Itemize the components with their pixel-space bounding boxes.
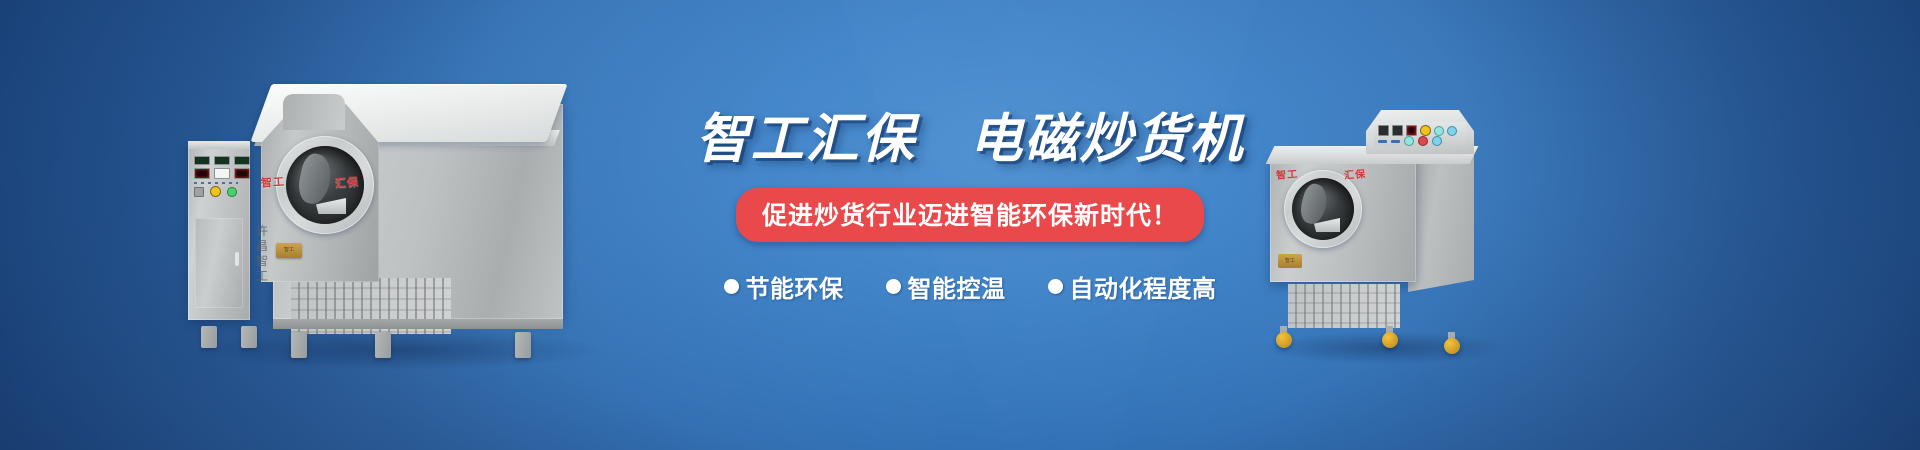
left-drum-paddle xyxy=(295,151,335,206)
feature-item-3: 自动化程度高 xyxy=(1048,269,1217,304)
panel-label-1 xyxy=(1378,140,1387,143)
tagline-ribbon: 促进炒货行业迈进智能环保新时代！ xyxy=(736,188,1204,242)
feature-item-1: 节能环保 xyxy=(724,269,844,304)
panel-display-2 xyxy=(1392,125,1403,136)
feature-label-1: 节能环保 xyxy=(746,269,844,304)
bullet-dot-icon xyxy=(1048,279,1063,294)
right-nameplate: 智工 xyxy=(1278,254,1302,268)
bullet-dot-icon xyxy=(886,279,901,294)
right-caster-wheel-2 xyxy=(1382,332,1398,348)
emergency-stop-icon[interactable] xyxy=(1420,125,1431,136)
feature-label-3: 自动化程度高 xyxy=(1070,269,1217,304)
left-nameplate: 智工 xyxy=(276,243,302,258)
headline-brand: 智工汇保 xyxy=(696,110,916,169)
right-panel-row-2 xyxy=(1378,136,1442,146)
gauge-display-1 xyxy=(194,156,210,165)
feature-item-2: 智能控温 xyxy=(886,269,1006,304)
indicator-lamp-3 xyxy=(1404,136,1414,146)
emergency-knob-icon[interactable] xyxy=(210,186,221,197)
readout-display-2 xyxy=(214,168,230,179)
readout-display-1 xyxy=(194,168,210,179)
bullet-dot-icon xyxy=(724,279,739,294)
tagline-text: 促进炒货行业迈进智能环保新时代！ xyxy=(762,202,1178,230)
readout-display-3 xyxy=(234,168,250,179)
right-ventilation-grille xyxy=(1288,284,1400,328)
right-side-panel xyxy=(1408,142,1474,292)
left-leg-1 xyxy=(201,326,217,348)
left-nameplate-text: 智工 xyxy=(276,243,302,258)
left-door-handle[interactable] xyxy=(235,252,239,266)
right-caster-wheel-3 xyxy=(1444,338,1460,354)
left-control-row xyxy=(194,186,237,197)
right-brand-mark-right: 汇保 xyxy=(1344,165,1367,181)
left-brand-mark-right: 汇保 xyxy=(334,173,359,191)
right-nameplate-text: 智工 xyxy=(1278,254,1302,268)
indicator-lamp-2 xyxy=(1447,126,1457,136)
left-control-cabinet-top xyxy=(188,141,250,149)
indicator-lamp-5 xyxy=(1432,136,1442,146)
gauge-display-3 xyxy=(234,156,250,165)
toggle-switch-icon[interactable] xyxy=(194,187,204,197)
headline-product: 电磁炒货机 xyxy=(969,110,1244,169)
feature-label-2: 智能控温 xyxy=(908,269,1006,304)
power-lamp-icon xyxy=(227,187,237,197)
machine-left-illustration: 智工 汇保 智工 许昌智工 xyxy=(183,100,603,350)
left-brand-mark-left: 智工 xyxy=(260,173,285,191)
left-leg-3 xyxy=(291,332,307,358)
indicator-lamp-4 xyxy=(1418,136,1428,146)
left-panel-label-strip xyxy=(194,182,238,184)
panel-display-1 xyxy=(1378,125,1389,136)
machine-right-illustration: 智工 汇保 智工 xyxy=(1258,104,1498,348)
left-base-rail xyxy=(273,319,563,329)
gauge-display-2 xyxy=(214,156,230,165)
left-leg-2 xyxy=(241,326,257,348)
panel-label-2 xyxy=(1391,140,1400,143)
page-title: 智工汇保 电磁炒货机 xyxy=(690,112,1250,168)
banner-copy-block: 智工汇保 电磁炒货机 促进炒货行业迈进智能环保新时代！ 节能环保 智能控温 自动… xyxy=(690,112,1250,304)
right-drum-opening xyxy=(1292,178,1354,240)
right-panel-row-1 xyxy=(1378,125,1457,136)
left-leg-5 xyxy=(515,332,531,358)
left-side-branding-text: 许昌智工 xyxy=(255,224,269,284)
left-drum-hood xyxy=(283,94,345,130)
indicator-lamp-1 xyxy=(1434,126,1444,136)
right-drum-paddle xyxy=(1298,182,1331,227)
left-leg-4 xyxy=(375,332,391,358)
right-brand-mark-left: 智工 xyxy=(1276,165,1299,181)
right-caster-wheel-1 xyxy=(1276,332,1292,348)
promo-banner: 智工 汇保 智工 许昌智工 xyxy=(0,0,1920,450)
panel-display-3 xyxy=(1406,125,1417,136)
feature-list: 节能环保 智能控温 自动化程度高 xyxy=(690,269,1250,304)
left-gauge-row xyxy=(194,156,250,165)
left-readout-row xyxy=(194,168,250,179)
